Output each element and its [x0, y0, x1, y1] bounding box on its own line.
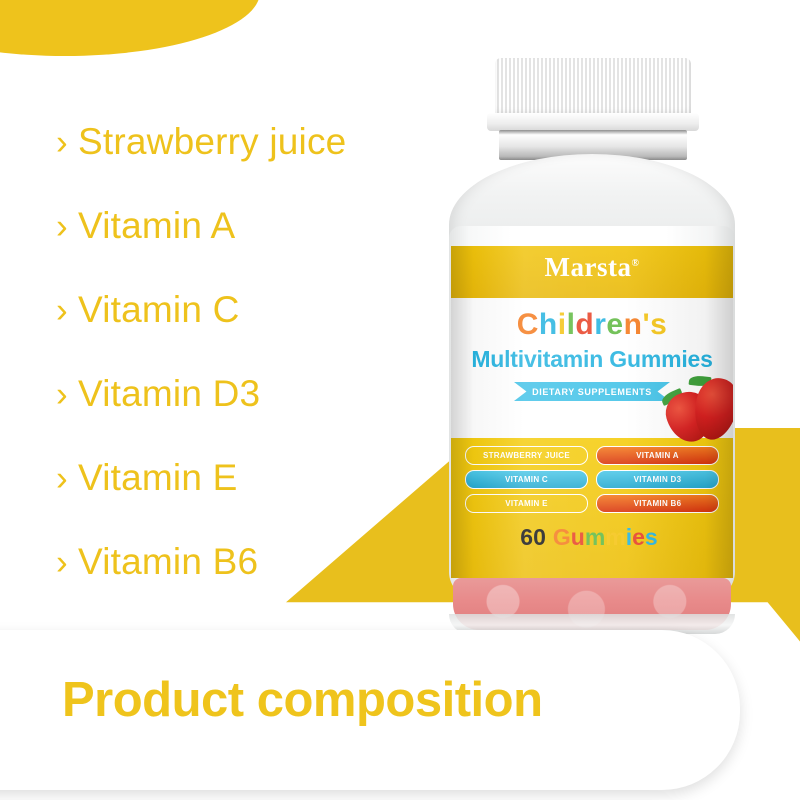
dietary-supplements-ribbon: DIETARY SUPPLEMENTS — [514, 382, 670, 401]
brand-name-text: Marsta — [545, 252, 632, 282]
gummy-count: 60Gummies — [451, 524, 733, 551]
label-ingredient-pill: VITAMIN A — [596, 446, 719, 465]
product-bottle: Marsta® Children's Multivitamin Gummies … — [443, 58, 739, 598]
gummy-word-letter: m — [605, 524, 625, 550]
gummy-word-letter: m — [585, 524, 605, 550]
title-letter: d — [575, 308, 594, 341]
list-item: › Vitamin B6 — [56, 520, 436, 604]
registered-trademark-icon: ® — [631, 258, 639, 269]
decorative-yellow-blob-top-left — [0, 0, 260, 56]
gummy-word-letter: u — [571, 524, 585, 550]
gummy-count-word: Gummies — [546, 524, 658, 550]
ingredient-label: Vitamin E — [78, 457, 237, 499]
list-item: › Strawberry juice — [56, 100, 436, 184]
label-ingredient-pill: VITAMIN D3 — [596, 470, 719, 489]
list-item: › Vitamin C — [56, 268, 436, 352]
list-item: › Vitamin E — [56, 436, 436, 520]
ingredient-label: Vitamin A — [78, 205, 235, 247]
title-letter: n — [624, 308, 643, 341]
chevron-right-icon: › — [56, 545, 78, 580]
label-ingredient-pill: VITAMIN E — [465, 494, 588, 513]
bottle-label: Marsta® Children's Multivitamin Gummies … — [451, 246, 733, 578]
title-letter: 's — [642, 308, 667, 341]
chevron-right-icon: › — [56, 461, 78, 496]
title-letter: i — [558, 308, 567, 341]
label-ingredient-pill: VITAMIN B6 — [596, 494, 719, 513]
chevron-right-icon: › — [56, 209, 78, 244]
page-title: Product composition — [62, 672, 543, 728]
ingredient-label: Strawberry juice — [78, 121, 346, 163]
title-letter: h — [539, 308, 558, 341]
chevron-right-icon: › — [56, 293, 78, 328]
list-item: › Vitamin D3 — [56, 352, 436, 436]
ingredient-pill-grid: STRAWBERRY JUICEVITAMIN AVITAMIN CVITAMI… — [465, 446, 719, 513]
product-title-childrens: Children's — [451, 308, 733, 342]
ingredient-list: › Strawberry juice › Vitamin A › Vitamin… — [56, 100, 436, 604]
chevron-right-icon: › — [56, 377, 78, 412]
product-composition-poster: › Strawberry juice › Vitamin A › Vitamin… — [0, 0, 800, 800]
gummy-word-letter: G — [553, 524, 571, 550]
ingredient-label: Vitamin C — [78, 289, 240, 331]
gummy-count-number: 60 — [520, 524, 546, 550]
ingredient-label: Vitamin D3 — [78, 373, 260, 415]
title-letter: C — [517, 308, 539, 341]
ingredient-label: Vitamin B6 — [78, 541, 258, 583]
title-letter: e — [606, 308, 623, 341]
gummy-word-letter: s — [645, 524, 658, 550]
chevron-right-icon: › — [56, 125, 78, 160]
list-item: › Vitamin A — [56, 184, 436, 268]
label-ingredient-pill: STRAWBERRY JUICE — [465, 446, 588, 465]
bottle-cap — [495, 58, 691, 116]
bottle-cap-brim — [487, 113, 699, 131]
gummy-word-letter: e — [632, 524, 645, 550]
label-ingredient-pill: VITAMIN C — [465, 470, 588, 489]
product-title-multivitamin: Multivitamin Gummies — [451, 346, 733, 373]
title-letter: r — [594, 308, 606, 341]
brand-name: Marsta® — [451, 252, 733, 283]
